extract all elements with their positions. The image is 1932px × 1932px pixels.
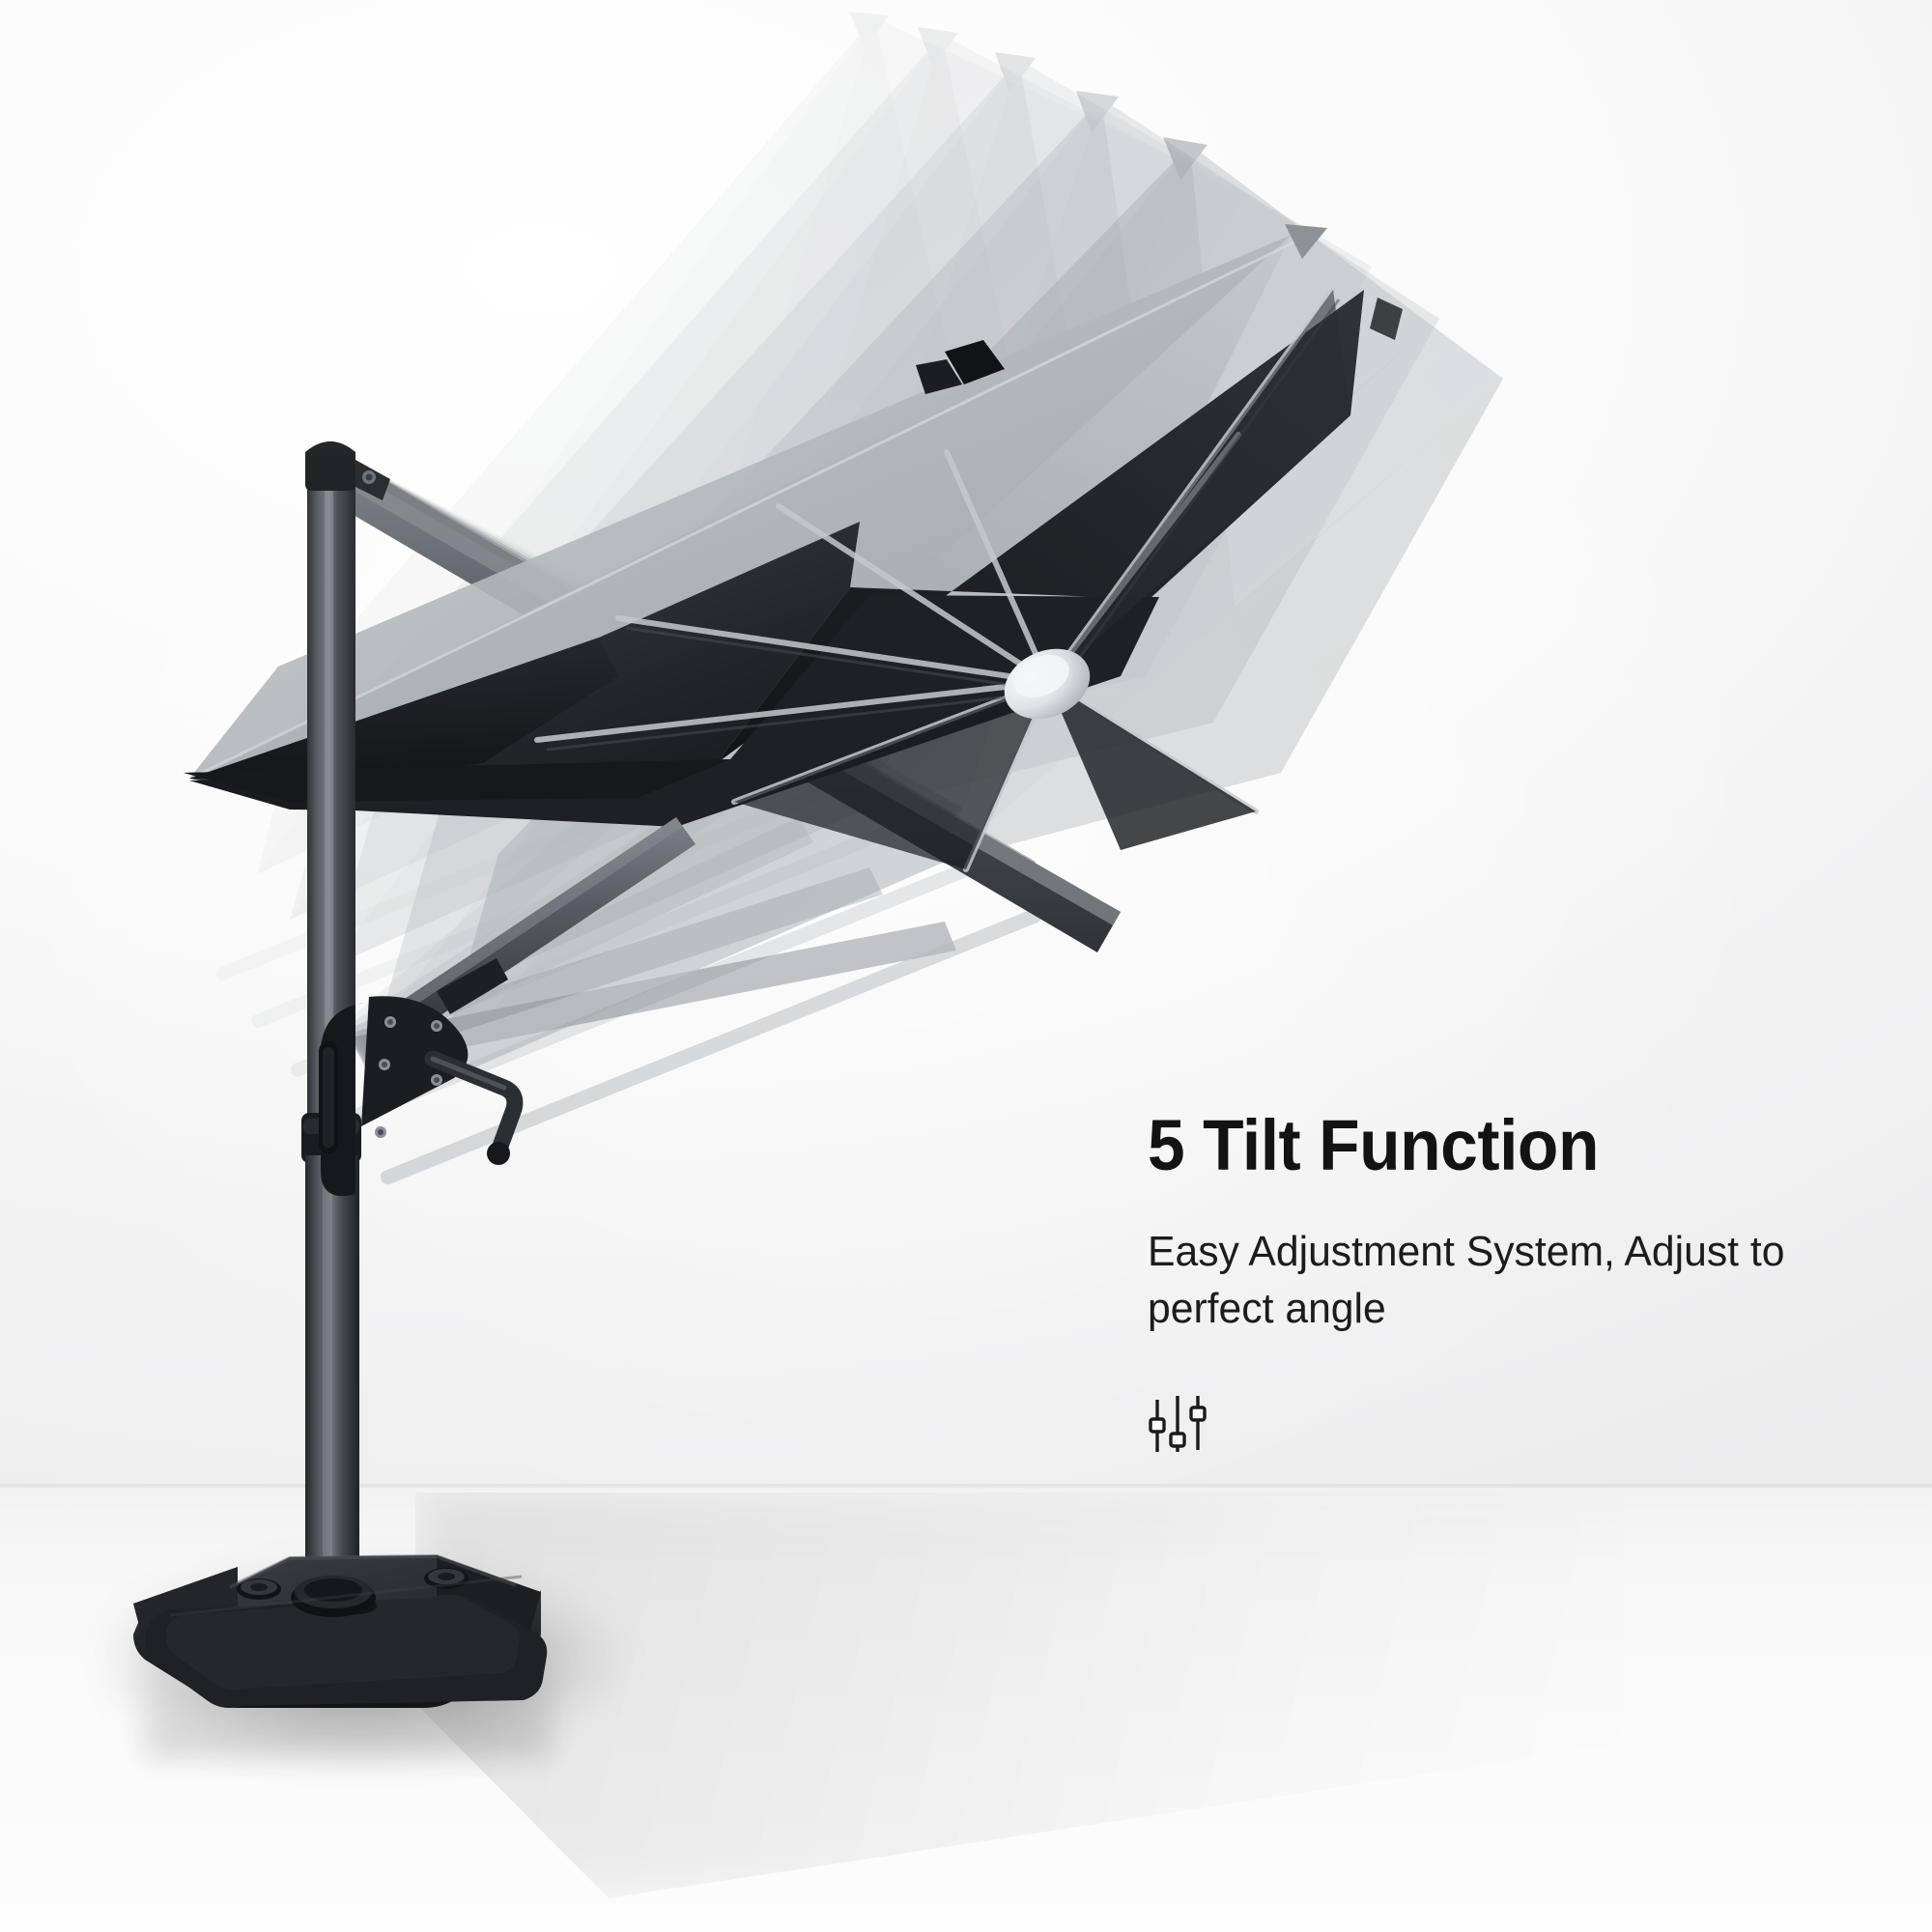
sliders-icon — [1148, 1394, 1209, 1458]
umbrella-base — [133, 1555, 547, 1708]
product-scene — [0, 0, 1932, 1932]
headline: 5 Tilt Function — [1148, 1109, 1837, 1181]
umbrella-illustration — [0, 0, 1932, 1932]
feature-copy-block: 5 Tilt Function Easy Adjustment System, … — [1148, 1109, 1882, 1458]
subcopy: Easy Adjustment System, Adjust to perfec… — [1148, 1224, 1841, 1338]
